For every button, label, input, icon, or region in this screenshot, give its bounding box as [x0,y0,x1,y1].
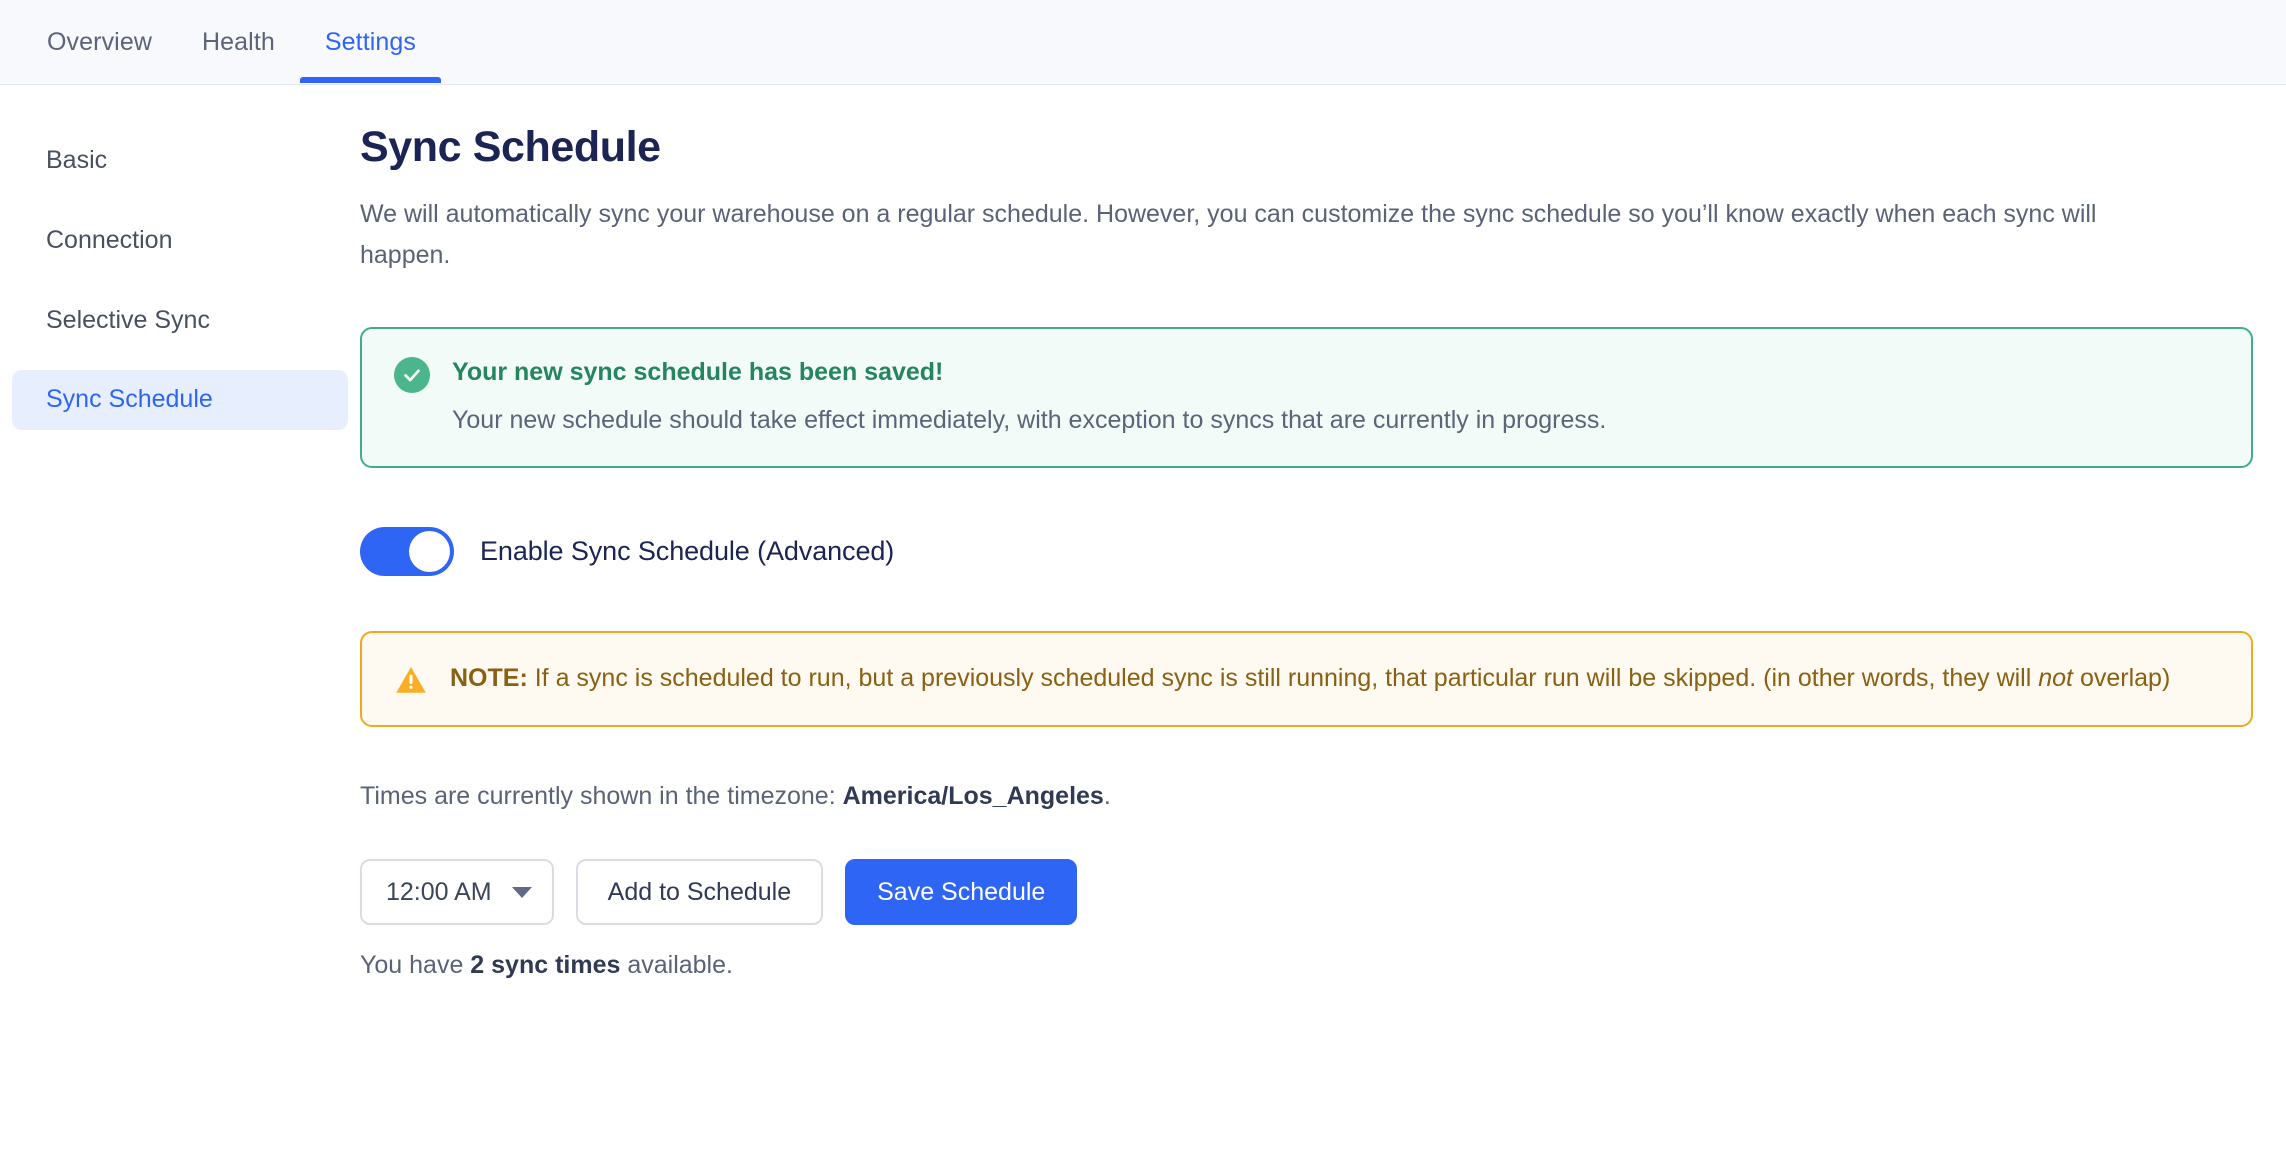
settings-sidebar: Basic Connection Selective Sync Sync Sch… [0,85,360,450]
sync-times-footnote: You have 2 sync times available. [360,951,2253,980]
chevron-down-icon [512,887,532,898]
add-to-schedule-button[interactable]: Add to Schedule [576,859,823,925]
toggle-knob [409,531,450,572]
success-alert-body: Your new sync schedule has been saved! Y… [452,355,1606,438]
footnote-prefix: You have [360,951,470,979]
save-schedule-button[interactable]: Save Schedule [845,859,1077,925]
warning-note-alert: NOTE: If a sync is scheduled to run, but… [360,631,2253,728]
sidebar-item-sync-schedule-label: Sync Schedule [46,385,213,413]
warning-note-part1: If a sync is scheduled to run, but a pre… [528,664,2038,692]
warning-triangle-icon [394,663,428,697]
sidebar-item-basic[interactable]: Basic [12,131,348,191]
main-content: Sync Schedule We will automatically sync… [360,85,2286,980]
tab-settings[interactable]: Settings [300,0,441,85]
success-alert-title: Your new sync schedule has been saved! [452,356,1606,389]
warning-note-part2: overlap) [2073,664,2170,692]
timezone-line: Times are currently shown in the timezon… [360,782,2253,811]
warning-note-emphasis: not [2038,664,2073,692]
schedule-controls: 12:00 AM Add to Schedule Save Schedule [360,859,2253,925]
warning-note-text: NOTE: If a sync is scheduled to run, but… [450,659,2170,698]
sidebar-item-connection-label: Connection [46,226,172,254]
page-description: We will automatically sync your warehous… [360,194,2180,275]
tab-settings-label: Settings [325,28,416,57]
sidebar-item-selective-sync-label: Selective Sync [46,306,210,334]
timezone-suffix: . [1104,782,1111,810]
page-title: Sync Schedule [360,123,2253,172]
top-tab-bar: Overview Health Settings [0,0,2286,85]
footnote-count: 2 sync times [470,951,620,979]
tab-health-label: Health [202,28,275,57]
timezone-prefix: Times are currently shown in the timezon… [360,782,843,810]
save-schedule-label: Save Schedule [877,878,1045,907]
success-alert: Your new sync schedule has been saved! Y… [360,327,2253,468]
tab-health[interactable]: Health [177,0,300,85]
tab-overview-label: Overview [47,28,152,57]
time-select-value: 12:00 AM [386,878,492,907]
enable-sync-schedule-label: Enable Sync Schedule (Advanced) [480,536,894,567]
sidebar-item-basic-label: Basic [46,146,107,174]
enable-sync-schedule-row: Enable Sync Schedule (Advanced) [360,527,2253,576]
add-to-schedule-label: Add to Schedule [608,878,791,907]
tab-overview[interactable]: Overview [22,0,177,85]
sidebar-item-connection[interactable]: Connection [12,211,348,271]
warning-note-prefix: NOTE: [450,664,528,692]
page-body: Basic Connection Selective Sync Sync Sch… [0,85,2286,1156]
check-circle-icon [394,357,430,393]
timezone-value: America/Los_Angeles [843,782,1104,810]
footnote-suffix: available. [620,951,733,979]
sidebar-item-sync-schedule[interactable]: Sync Schedule [12,370,348,430]
sidebar-item-selective-sync[interactable]: Selective Sync [12,291,348,351]
time-select[interactable]: 12:00 AM [360,859,554,925]
enable-sync-schedule-toggle[interactable] [360,527,454,576]
success-alert-subtitle: Your new schedule should take effect imm… [452,403,1606,438]
